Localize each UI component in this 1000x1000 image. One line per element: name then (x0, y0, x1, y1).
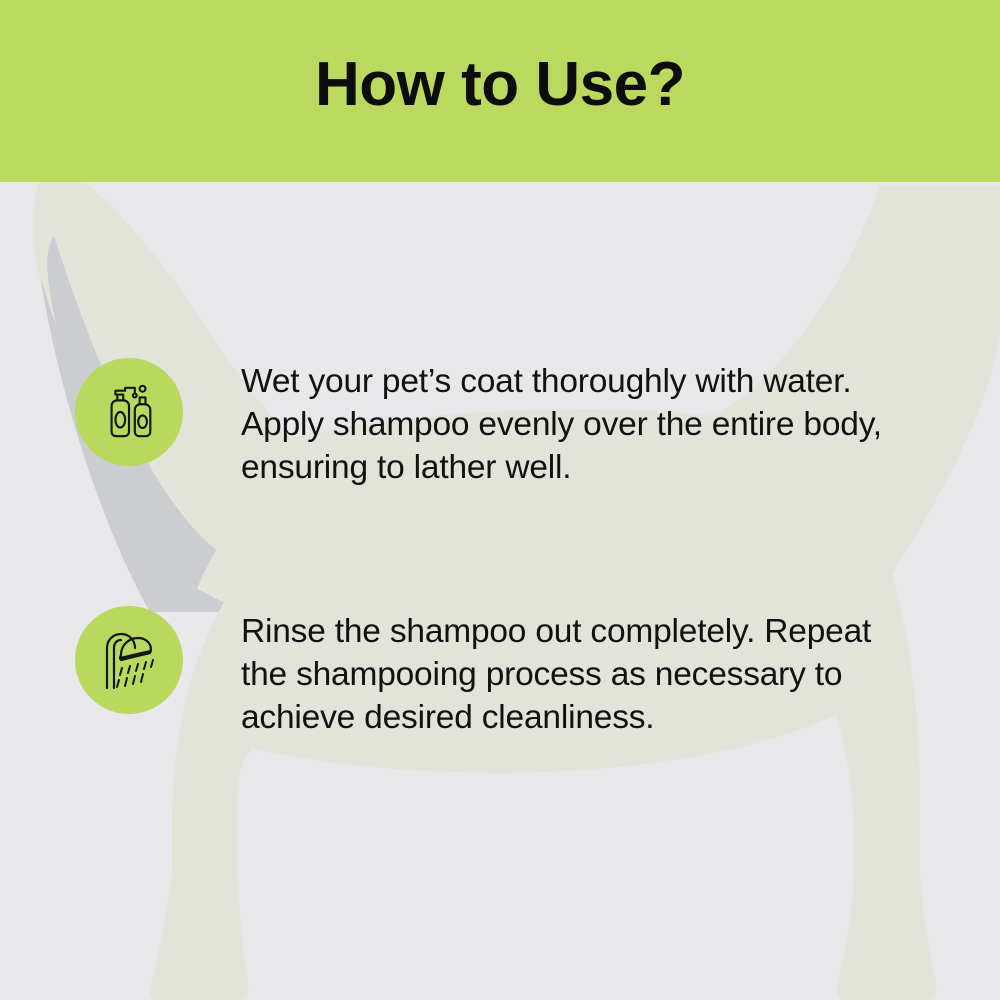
step-1-icon-circle (75, 358, 183, 466)
shampoo-bottles-icon (98, 381, 160, 443)
step-2-text: Rinse the shampoo out completely. Repeat… (241, 602, 911, 739)
step-item-1: Wet your pet’s coat thoroughly with wate… (75, 354, 935, 489)
step-item-2: Rinse the shampoo out completely. Repeat… (75, 602, 935, 739)
how-to-use-card: How to Use? (0, 0, 1000, 1000)
page-title: How to Use? (0, 0, 1000, 182)
step-2-icon-circle (75, 606, 183, 714)
steps-container: Wet your pet’s coat thoroughly with wate… (0, 182, 1000, 1000)
shower-head-icon (97, 628, 161, 692)
header-band: How to Use? (0, 0, 1000, 182)
step-1-text: Wet your pet’s coat thoroughly with wate… (241, 354, 911, 489)
